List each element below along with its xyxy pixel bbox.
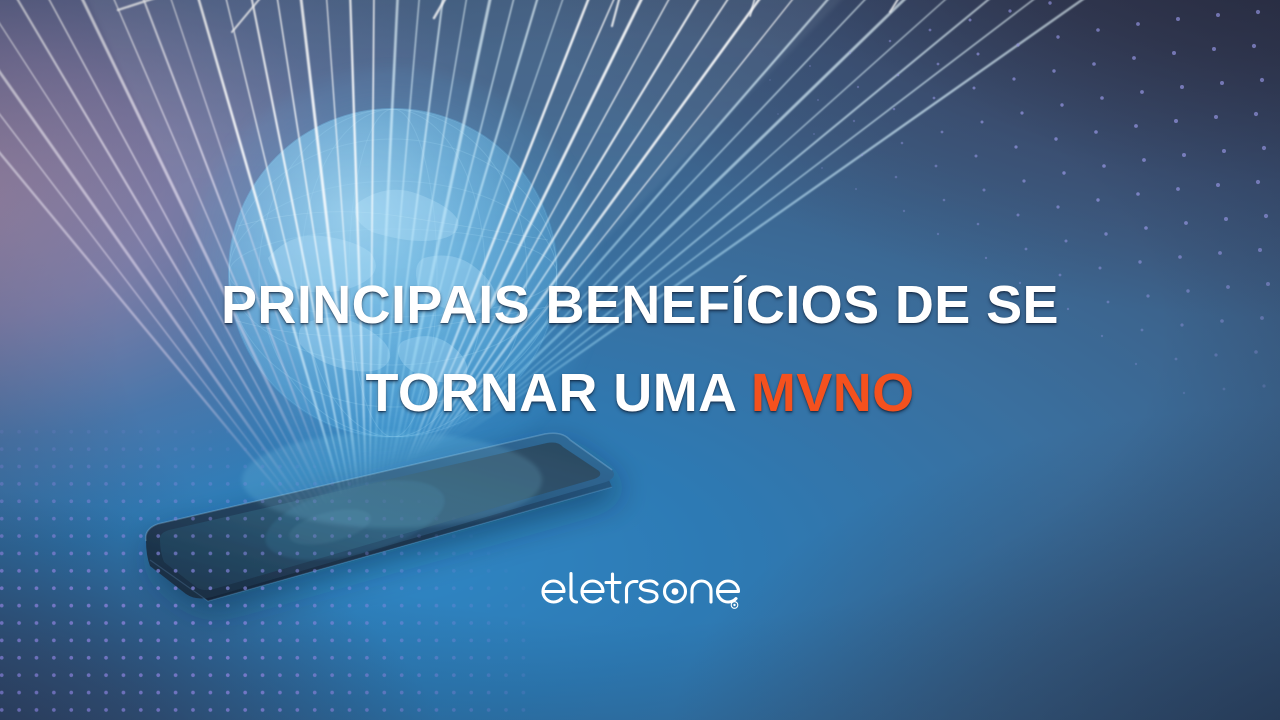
- logo-o-dot-icon: [672, 588, 679, 595]
- brand-logo: eletronet: [0, 565, 1280, 611]
- page-title: PRINCIPAIS BENEFÍCIOS DE SE TORNAR UMA M…: [0, 261, 1280, 437]
- headline-line-1: PRINCIPAIS BENEFÍCIOS DE SE: [0, 261, 1280, 349]
- headline-accent-mvno: MVNO: [751, 363, 915, 423]
- headline-line-2-prefix: TORNAR UMA: [366, 363, 751, 423]
- slide-canvas: PRINCIPAIS BENEFÍCIOS DE SE TORNAR UMA M…: [0, 0, 1280, 720]
- headline-line-2: TORNAR UMA MVNO: [0, 349, 1280, 437]
- registered-trademark-icon: [731, 602, 738, 609]
- eletronet-wordmark-icon: [540, 565, 740, 611]
